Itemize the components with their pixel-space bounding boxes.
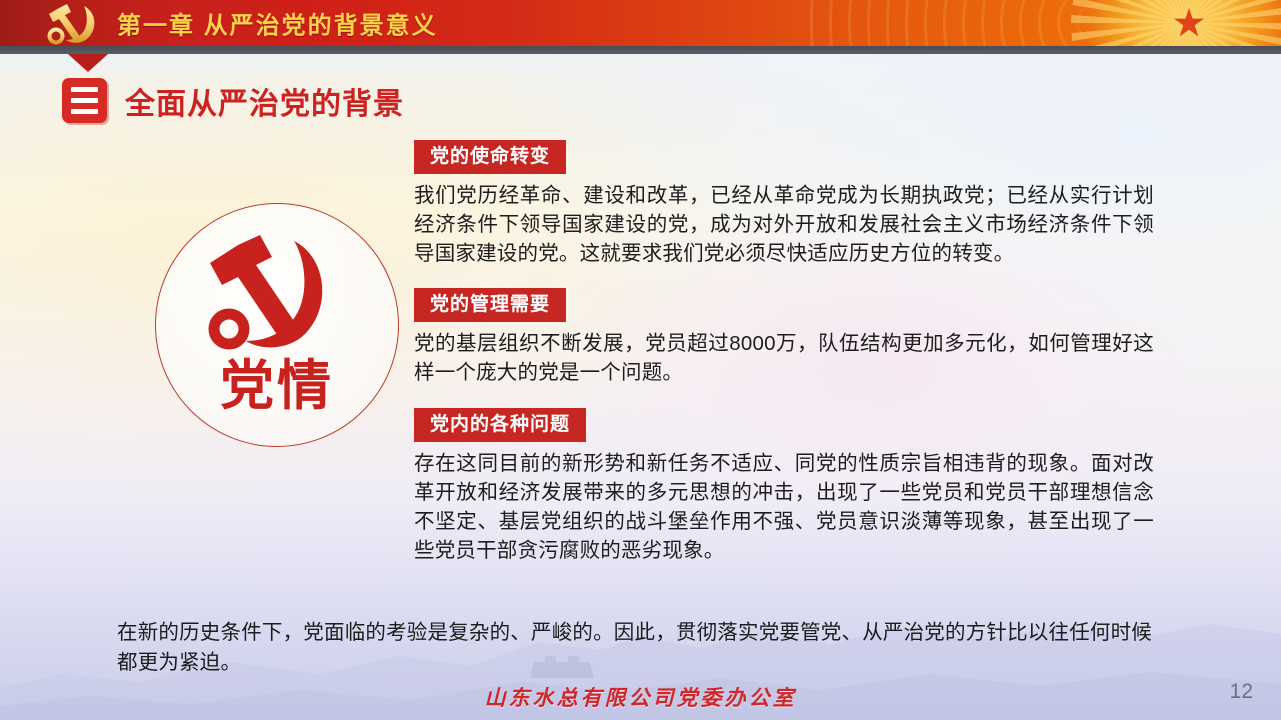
triangle-down-icon <box>68 54 108 72</box>
content-block: 党内的各种问题 存在这同目前的新形势和新任务不适应、同党的性质宗旨相违背的现象。… <box>414 408 1154 565</box>
slide: 第一章 从严治党的背景意义 全面从严治党的背景 党情 党的使命转变 我们党历经革… <box>0 0 1281 720</box>
hamburger-bars-icon <box>62 78 107 123</box>
block-badge: 党的使命转变 <box>414 140 566 174</box>
footer-organization: 山东水总有限公司党委办公室 <box>0 682 1281 712</box>
section-title: 全面从严治党的背景 <box>62 78 404 123</box>
content-block: 党的使命转变 我们党历经革命、建设和改革，已经从革命党成为长期执政党；已经从实行… <box>414 140 1154 268</box>
chapter-title: 第一章 从严治党的背景意义 <box>117 6 438 41</box>
content-block: 党的管理需要 党的基层组织不断发展，党员超过8000万，队伍结构更加多元化，如何… <box>414 288 1154 387</box>
page-number: 12 <box>1230 680 1253 704</box>
block-body: 我们党历经革命、建设和改革，已经从革命党成为长期执政党；已经从实行计划经济条件下… <box>414 181 1154 268</box>
block-body: 存在这同目前的新形势和新任务不适应、同党的性质宗旨相违背的现象。面对改革开放和经… <box>414 449 1154 565</box>
header-sunburst <box>1071 0 1281 46</box>
chapter-header-bar: 第一章 从严治党的背景意义 <box>0 0 1281 46</box>
section-title-label: 全面从严治党的背景 <box>125 79 404 123</box>
block-badge: 党的管理需要 <box>414 288 566 322</box>
closing-paragraph: 在新的历史条件下，党面临的考验是复杂的、严峻的。因此，贯彻落实党要管党、从严治党… <box>117 618 1167 677</box>
hammer-sickle-icon <box>202 233 352 363</box>
content-blocks: 党的使命转变 我们党历经革命、建设和改革，已经从革命党成为长期执政党；已经从实行… <box>414 140 1154 565</box>
block-badge: 党内的各种问题 <box>414 408 586 442</box>
emblem-label: 党情 <box>220 359 334 413</box>
block-body: 党的基层组织不断发展，党员超过8000万，队伍结构更加多元化，如何管理好这样一个… <box>414 329 1154 387</box>
hammer-sickle-icon <box>36 0 110 46</box>
party-emblem-circle: 党情 <box>155 203 399 447</box>
header-under-band <box>0 46 1281 54</box>
